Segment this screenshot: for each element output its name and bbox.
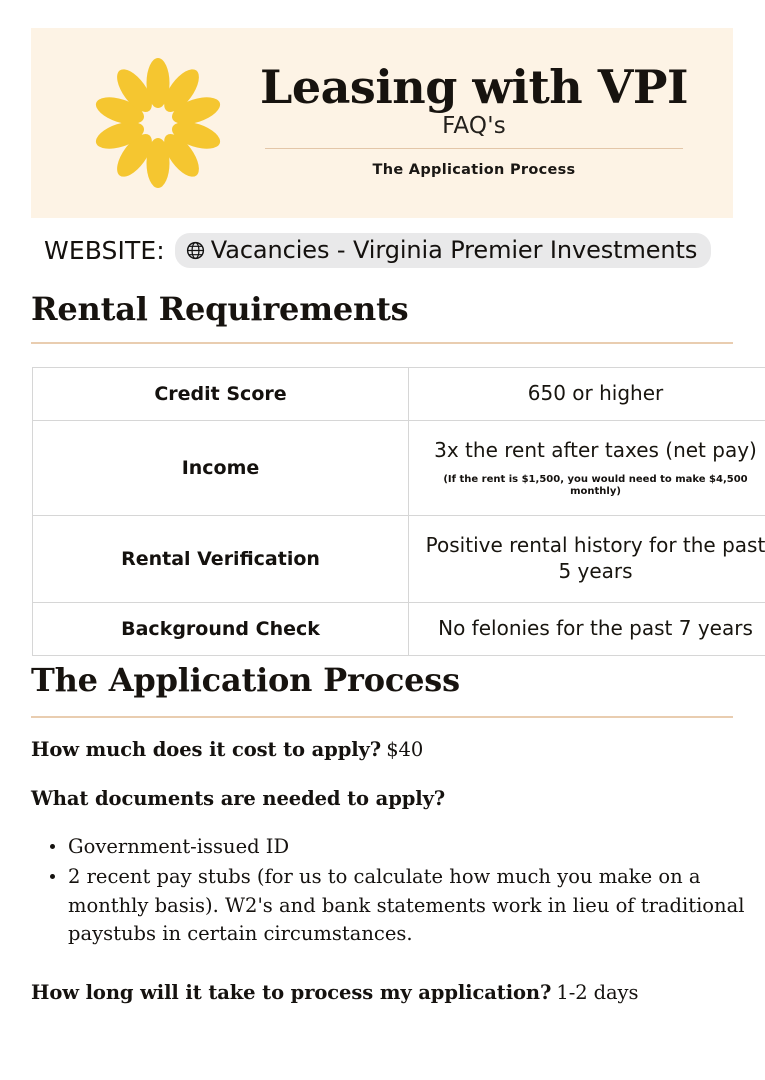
header-tagline: The Application Process	[373, 162, 576, 178]
website-label: WEBSITE:	[44, 236, 165, 265]
list-item: Government-issued ID	[68, 833, 758, 861]
table-row: Credit Score 650 or higher	[33, 368, 765, 421]
document-page: Leasing with VPI FAQ's The Application P…	[0, 0, 765, 1080]
header-banner: Leasing with VPI FAQ's The Application P…	[31, 28, 733, 218]
section-heading-application-process: The Application Process	[31, 661, 460, 699]
website-link-pill[interactable]: Vacancies - Virginia Premier Investments	[175, 233, 711, 268]
faq-question: How much does it cost to apply?	[31, 738, 381, 761]
page-title: Leasing with VPI	[260, 64, 688, 111]
faq-question: How long will it take to process my appl…	[31, 981, 551, 1004]
table-cell-value: 650 or higher	[409, 368, 765, 421]
website-link-text: Vacancies - Virginia Premier Investments	[211, 236, 697, 264]
table-row: Income 3x the rent after taxes (net pay)…	[33, 421, 765, 516]
header-divider	[265, 148, 683, 149]
rental-requirements-table: Credit Score 650 or higher Income 3x the…	[32, 367, 765, 656]
required-documents-list: Government-issued ID 2 recent pay stubs …	[38, 833, 758, 951]
table-row: Rental Verification Positive rental hist…	[33, 516, 765, 603]
page-subtitle: FAQ's	[442, 113, 506, 139]
table-cell-label: Rental Verification	[33, 516, 409, 603]
section-heading-rental-requirements: Rental Requirements	[31, 290, 408, 328]
faq-answer: $40	[386, 738, 423, 761]
faq-item-cost: How much does it cost to apply? $40	[31, 738, 737, 761]
table-row: Background Check No felonies for the pas…	[33, 603, 765, 656]
table-cell-value: Positive rental history for the past 5 y…	[409, 516, 765, 603]
logo-container	[83, 28, 233, 218]
globe-icon	[186, 241, 205, 260]
table-cell-value: No felonies for the past 7 years	[409, 603, 765, 656]
table-cell-note: (If the rent is $1,500, you would need t…	[421, 474, 765, 498]
table-cell-value: 3x the rent after taxes (net pay) (If th…	[409, 421, 765, 516]
website-row: WEBSITE: Vacancies - Virginia Premier In…	[44, 233, 711, 268]
header-text-block: Leasing with VPI FAQ's The Application P…	[233, 64, 733, 179]
table-cell-label: Background Check	[33, 603, 409, 656]
table-cell-label: Credit Score	[33, 368, 409, 421]
list-item: 2 recent pay stubs (for us to calculate …	[68, 863, 758, 948]
faq-answer: 1-2 days	[556, 981, 638, 1004]
table-cell-label: Income	[33, 421, 409, 516]
section-divider-rental	[31, 342, 733, 344]
sunflower-logo-icon	[92, 57, 224, 189]
faq-item-processing-time: How long will it take to process my appl…	[31, 981, 737, 1004]
section-divider-process	[31, 716, 733, 718]
faq-question: What documents are needed to apply?	[31, 787, 445, 810]
faq-item-documents: What documents are needed to apply?	[31, 787, 737, 810]
